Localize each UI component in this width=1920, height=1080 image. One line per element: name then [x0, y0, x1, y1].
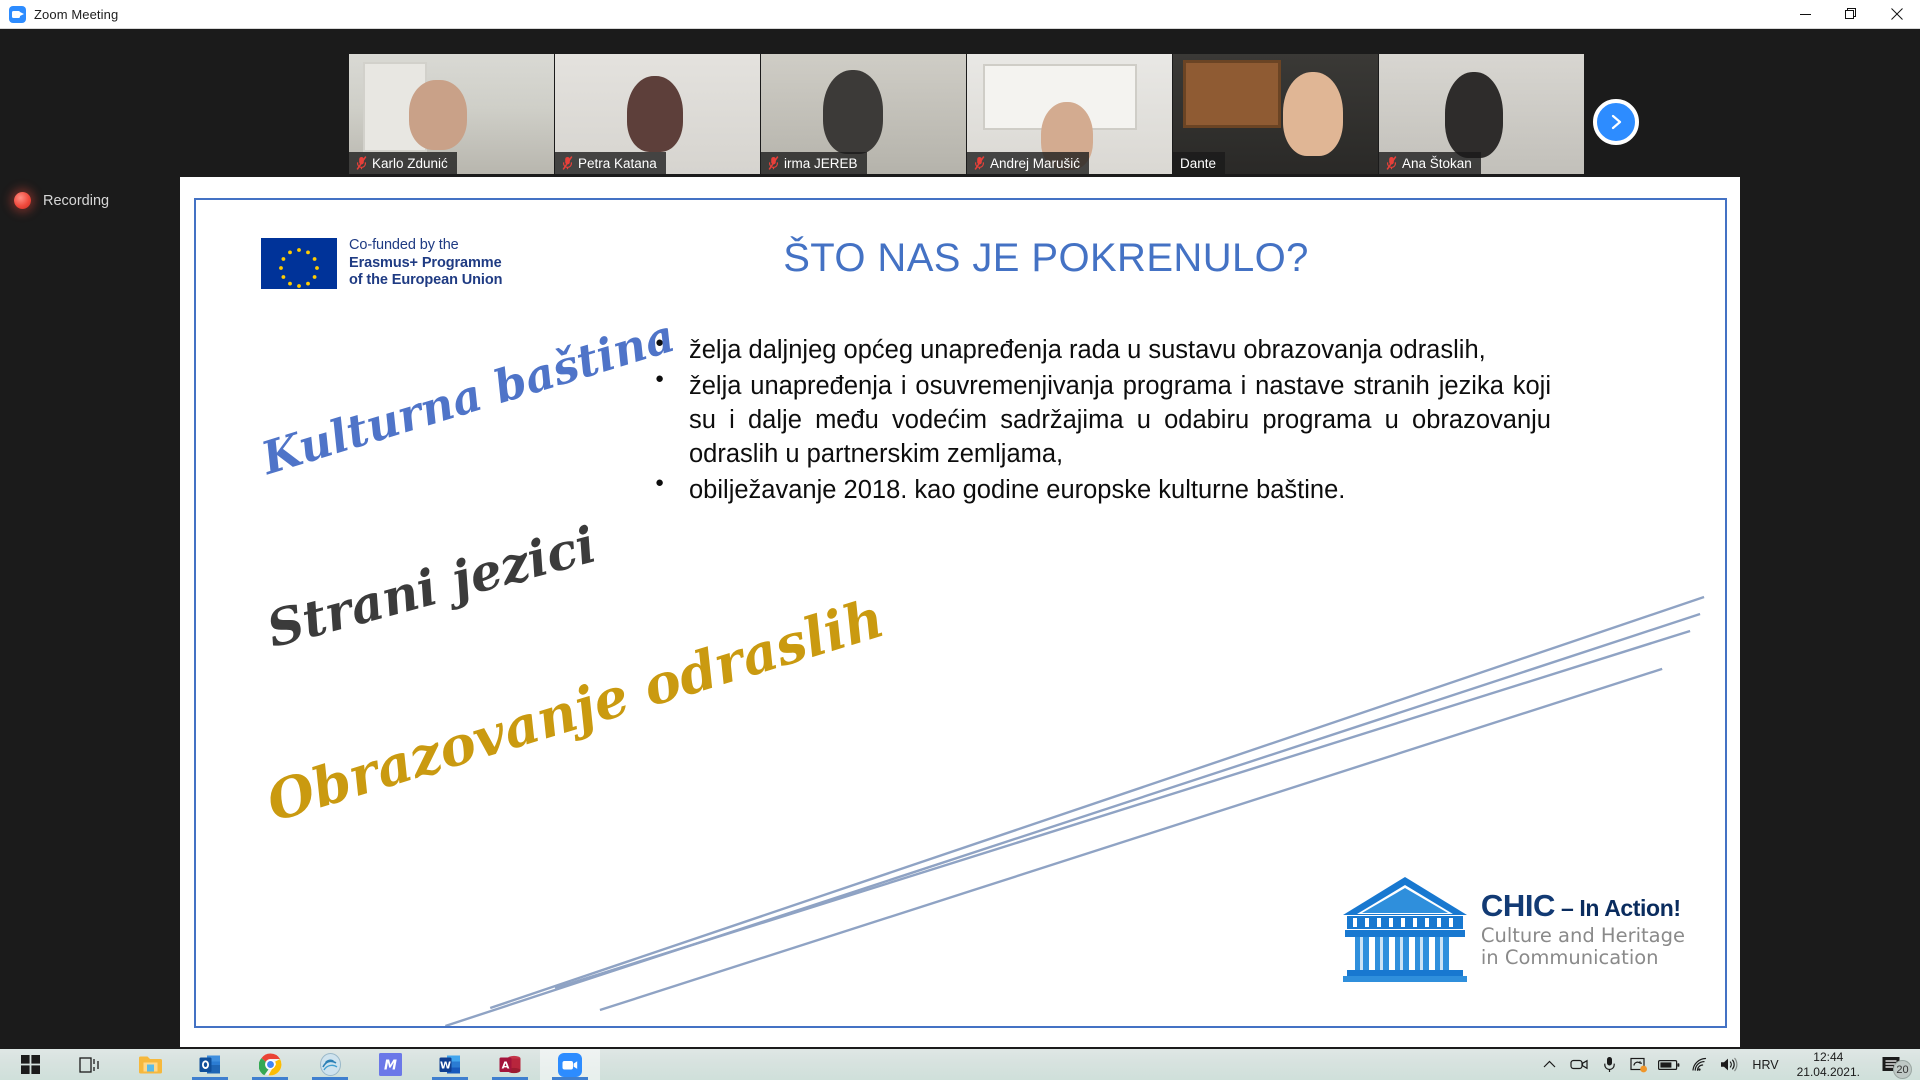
participant-name-badge: Karlo Zdunić [349, 152, 457, 174]
slide-bullet-list: želja daljnjeg općeg unapređenja rada u … [651, 334, 1551, 510]
shared-screen-slide[interactable]: Co-funded by the Erasmus+ Programme of t… [180, 177, 1740, 1047]
zoom-video-icon [9, 6, 26, 23]
muted-microphone-icon [974, 156, 985, 170]
chic-name: CHIC – In Action! [1481, 890, 1685, 921]
word-icon: W [439, 1053, 462, 1076]
title-bar-left: Zoom Meeting [0, 6, 118, 23]
eu-flag-icon [261, 238, 337, 289]
participant-tile[interactable]: Karlo Zdunić [349, 54, 554, 174]
participant-name: Petra Katana [578, 156, 657, 171]
access-button[interactable]: A [480, 1049, 540, 1080]
microphone-tray-button[interactable] [1594, 1049, 1624, 1080]
battery-tray-button[interactable] [1654, 1049, 1684, 1080]
muted-microphone-icon [356, 156, 367, 170]
greek-temple-icon [1341, 874, 1469, 984]
chevron-up-icon [1543, 1060, 1556, 1069]
chic-logo: CHIC – In Action! Culture and Heritage i… [1341, 874, 1685, 984]
slide-border: Co-funded by the Erasmus+ Programme of t… [194, 198, 1727, 1028]
wifi-icon [1690, 1057, 1708, 1072]
participant-name-badge: Ana Štokan [1379, 152, 1481, 174]
onedrive-sync-tray-button[interactable] [1624, 1049, 1654, 1080]
microphone-icon [1603, 1056, 1616, 1073]
bullet-item: obilježavanje 2018. kao godine europske … [651, 474, 1551, 508]
participant-name: Ana Štokan [1402, 156, 1472, 171]
wifi-tray-button[interactable] [1684, 1049, 1714, 1080]
battery-icon [1658, 1059, 1680, 1071]
slide-title: ŠTO NAS JE POKRENULO? [596, 236, 1496, 281]
restore-button[interactable] [1828, 0, 1874, 29]
minimize-button[interactable] [1782, 0, 1828, 29]
participant-tile[interactable]: Petra Katana [555, 54, 760, 174]
windows-logo-icon [21, 1055, 40, 1074]
window-title: Zoom Meeting [34, 7, 118, 22]
zoom-video-icon [558, 1053, 582, 1077]
participant-name-badge: irma JEREB [761, 152, 867, 174]
system-tray: HRV 12:44 21.04.2021. 20 [1534, 1049, 1920, 1080]
slide-content: Co-funded by the Erasmus+ Programme of t… [196, 200, 1725, 1026]
clock[interactable]: 12:44 21.04.2021. [1787, 1050, 1870, 1080]
chic-acronym: CHIC [1481, 888, 1555, 923]
participant-name: Andrej Marušić [990, 156, 1080, 171]
participant-tile[interactable]: Dante [1173, 54, 1378, 174]
letter-m-icon: M [379, 1053, 402, 1076]
svg-text:A: A [501, 1061, 509, 1072]
onedrive-sync-icon [1630, 1057, 1648, 1073]
language-indicator[interactable]: HRV [1744, 1058, 1786, 1072]
next-participants-button[interactable] [1593, 99, 1639, 145]
windows-taskbar: M W A [0, 1049, 1920, 1080]
volume-icon [1720, 1057, 1739, 1072]
eu-stars [261, 238, 337, 289]
access-icon: A [499, 1053, 522, 1076]
close-button[interactable] [1874, 0, 1920, 29]
blue-swirl-icon [319, 1053, 342, 1076]
chrome-button[interactable] [240, 1049, 300, 1080]
chevron-right-icon [1607, 113, 1625, 131]
outlook-button[interactable] [180, 1049, 240, 1080]
folder-icon [138, 1054, 163, 1075]
svg-text:W: W [439, 1061, 450, 1072]
script-word-strani-jezici: Strani jezici [261, 515, 602, 659]
zoom-meeting-stage: Karlo Zdunić Petra Katana [0, 29, 1920, 1049]
clock-time: 12:44 [1797, 1050, 1860, 1065]
bullet-item: želja daljnjeg općeg unapređenja rada u … [651, 334, 1551, 368]
action-center-button[interactable]: 20 [1870, 1049, 1914, 1080]
task-view-icon [79, 1056, 101, 1074]
participant-name-badge: Dante [1173, 152, 1225, 174]
word-button[interactable]: W [420, 1049, 480, 1080]
participant-tile[interactable]: Ana Štokan [1379, 54, 1584, 174]
participant-name-badge: Petra Katana [555, 152, 666, 174]
participant-name: irma JEREB [784, 156, 858, 171]
chic-suffix: – In Action! [1555, 895, 1681, 921]
volume-tray-button[interactable] [1714, 1049, 1744, 1080]
recording-dot-icon [14, 192, 31, 209]
chic-tagline-line-1: Culture and Heritage [1481, 925, 1685, 947]
participant-name: Dante [1180, 156, 1216, 171]
erasmus-logo-text: Co-funded by the Erasmus+ Programme of t… [349, 237, 502, 290]
muted-microphone-icon [562, 156, 573, 170]
notification-count-badge: 20 [1893, 1060, 1912, 1079]
m-app-button[interactable]: M [360, 1049, 420, 1080]
chrome-icon [259, 1053, 282, 1076]
script-word-kulturna-bastina: Kulturna baština [256, 309, 681, 485]
clock-date: 21.04.2021. [1797, 1065, 1860, 1080]
outlook-icon [199, 1053, 222, 1076]
chic-logo-text: CHIC – In Action! Culture and Heritage i… [1481, 890, 1685, 969]
file-explorer-button[interactable] [120, 1049, 180, 1080]
muted-microphone-icon [1386, 156, 1397, 170]
zoom-button[interactable] [540, 1049, 600, 1080]
task-view-button[interactable] [60, 1049, 120, 1080]
camera-tray-button[interactable] [1564, 1049, 1594, 1080]
media-app-button[interactable] [300, 1049, 360, 1080]
erasmus-line-2: Erasmus+ Programme [349, 255, 502, 273]
erasmus-line-3: of the European Union [349, 272, 502, 290]
erasmus-eu-logo: Co-funded by the Erasmus+ Programme of t… [261, 237, 502, 290]
participant-filmstrip: Karlo Zdunić Petra Katana [349, 54, 1571, 174]
start-button[interactable] [0, 1049, 60, 1080]
chic-tagline: Culture and Heritage in Communication [1481, 925, 1685, 969]
participant-tile[interactable]: irma JEREB [761, 54, 966, 174]
svg-text:M: M [384, 1059, 397, 1074]
chic-tagline-line-2: in Communication [1481, 947, 1685, 969]
participant-tile[interactable]: Andrej Marušić [967, 54, 1172, 174]
muted-microphone-icon [768, 156, 779, 170]
window-title-bar: Zoom Meeting [0, 0, 1920, 29]
erasmus-line-1: Co-funded by the [349, 237, 502, 255]
bullet-item: želja unapređenja i osuvremenjivanja pro… [651, 370, 1551, 472]
show-hidden-icons-button[interactable] [1534, 1049, 1564, 1080]
recording-indicator[interactable]: Recording [14, 192, 109, 209]
participant-name: Karlo Zdunić [372, 156, 448, 171]
camera-icon [1570, 1057, 1589, 1072]
participant-name-badge: Andrej Marušić [967, 152, 1089, 174]
recording-label: Recording [43, 193, 109, 209]
window-controls [1782, 0, 1920, 29]
